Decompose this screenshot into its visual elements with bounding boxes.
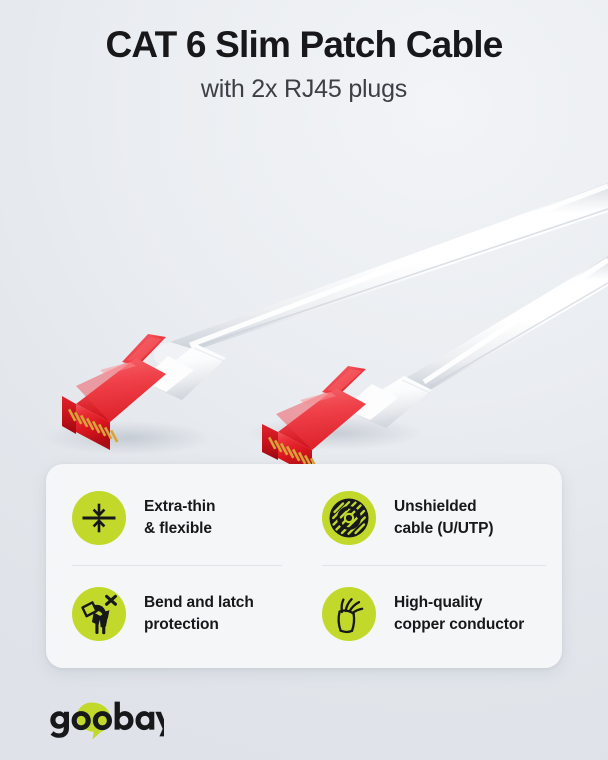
page-title: CAT 6 Slim Patch Cable xyxy=(0,24,608,65)
feature-extra-thin: Extra-thin & flexible xyxy=(46,470,304,566)
feature-copper-conductor: High-quality copper conductor xyxy=(304,566,562,662)
feature-line2: copper conductor xyxy=(394,614,524,636)
rj45-plug-right xyxy=(262,366,432,468)
goobay-logo: R xyxy=(46,700,164,742)
feature-unshielded-cable: Unshielded cable (U/UTP) xyxy=(304,470,562,566)
feature-line2: cable (U/UTP) xyxy=(394,518,493,540)
feature-label: Bend and latch protection xyxy=(144,592,254,636)
unshielded-cable-icon xyxy=(322,491,376,545)
feature-line1: Bend and latch xyxy=(144,594,254,611)
feature-bend-latch-protection: Bend and latch protection xyxy=(46,566,304,662)
logo-wordmark xyxy=(50,702,164,738)
product-photo xyxy=(0,128,608,468)
bend-latch-protection-icon xyxy=(72,587,126,641)
feature-line1: Extra-thin xyxy=(144,498,215,515)
feature-line1: High-quality xyxy=(394,594,482,611)
cable-upper xyxy=(154,183,608,366)
product-banner: CAT 6 Slim Patch Cable with 2x RJ45 plug… xyxy=(0,0,608,760)
feature-label: Extra-thin & flexible xyxy=(144,496,215,540)
feature-label: High-quality copper conductor xyxy=(394,592,524,636)
extra-thin-icon xyxy=(72,491,126,545)
header: CAT 6 Slim Patch Cable with 2x RJ45 plug… xyxy=(0,0,608,104)
copper-conductor-icon xyxy=(322,587,376,641)
cable-lower xyxy=(406,256,608,390)
feature-line1: Unshielded xyxy=(394,498,477,515)
feature-line2: protection xyxy=(144,614,254,636)
feature-line2: & flexible xyxy=(144,518,215,540)
page-subtitle: with 2x RJ45 plugs xyxy=(0,74,608,104)
feature-card: Extra-thin & flexible xyxy=(46,464,562,668)
feature-label: Unshielded cable (U/UTP) xyxy=(394,496,493,540)
